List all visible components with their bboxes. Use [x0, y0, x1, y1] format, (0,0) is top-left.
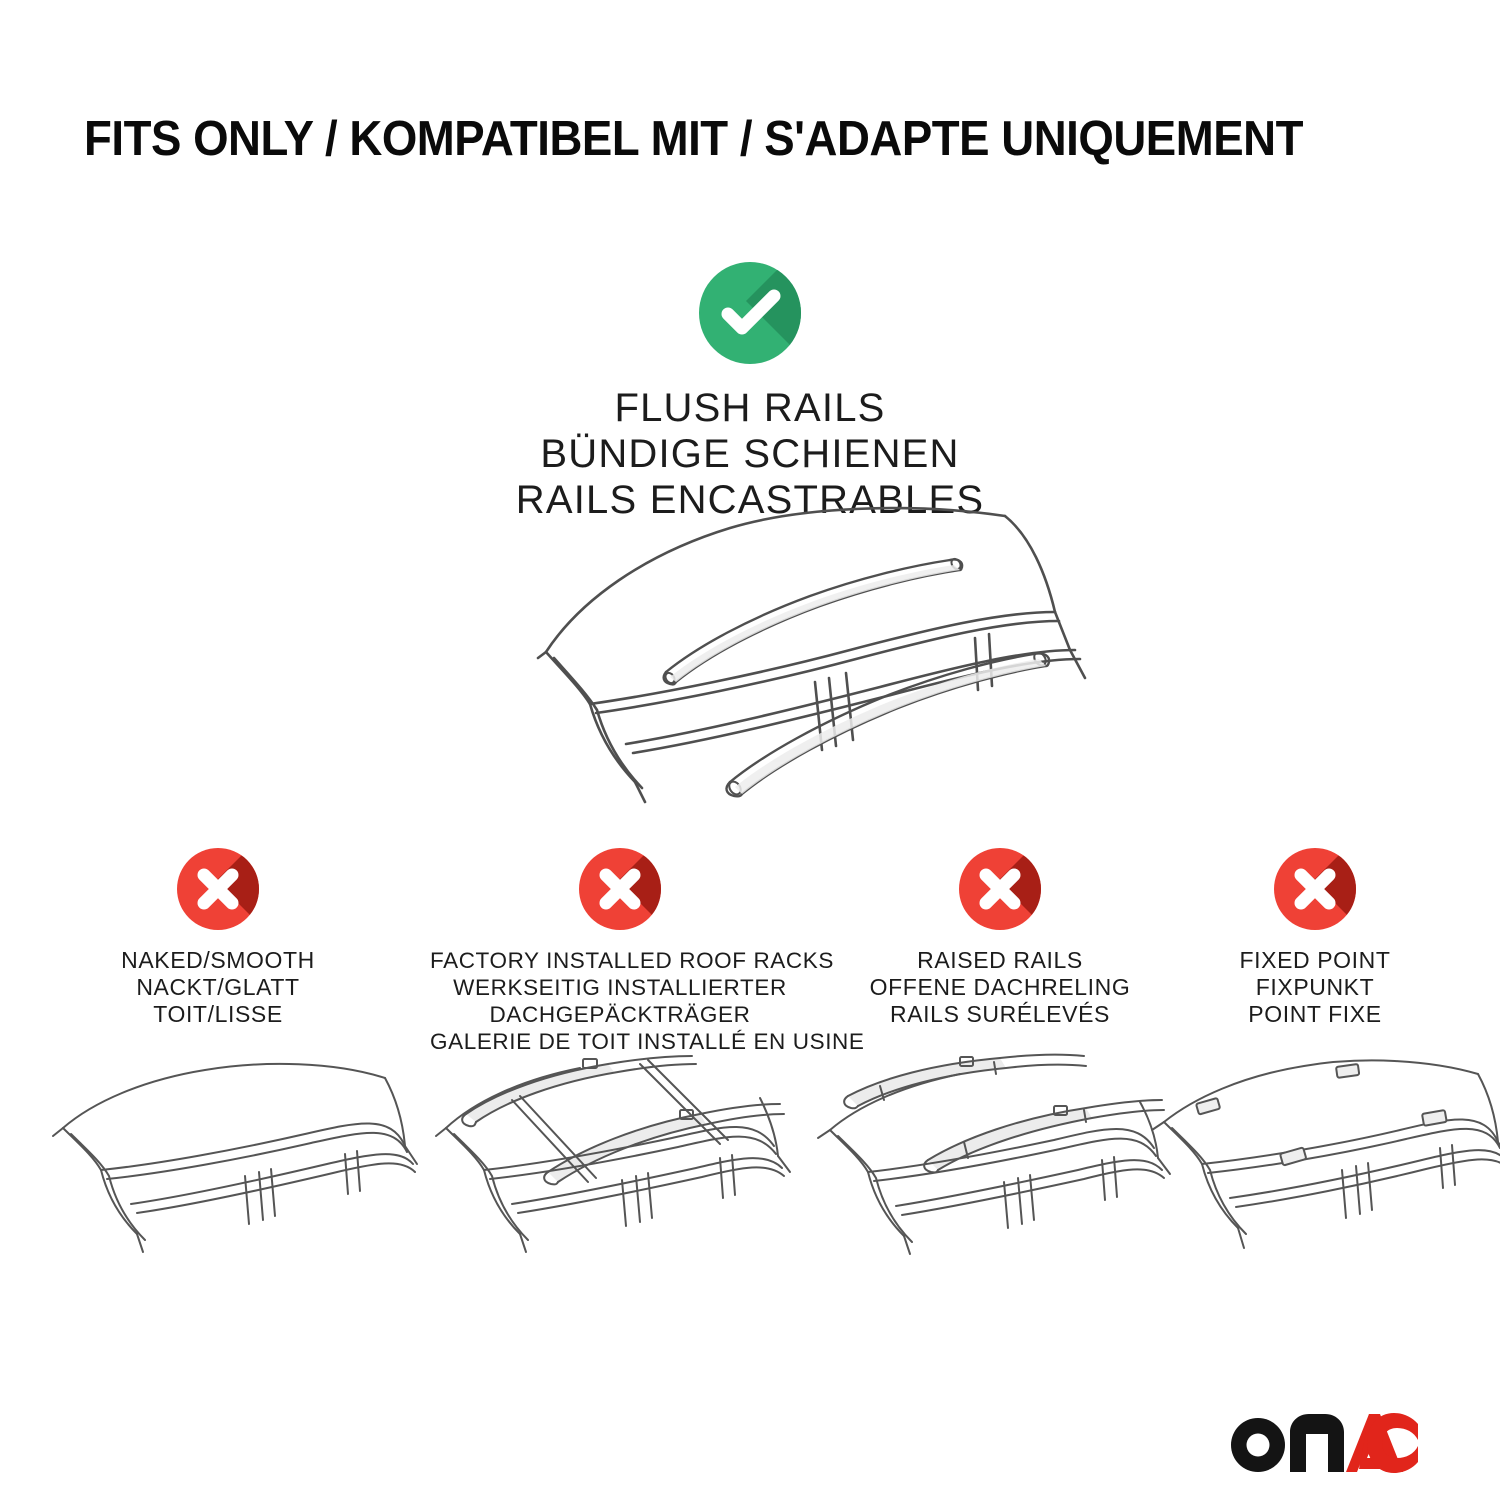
x-mark-glyph — [959, 848, 1041, 930]
check-circle-icon — [699, 262, 801, 364]
compatible-label-de: BÜNDIGE SCHIENEN — [0, 431, 1500, 477]
page-title: FITS ONLY / KOMPATIBEL MIT / S'ADAPTE UN… — [84, 110, 1330, 168]
omac-logo-letter-o — [1231, 1418, 1285, 1472]
option-label-de: NACKT/GLATT — [28, 974, 408, 1001]
car-roof-flush-rails-illustration — [430, 482, 1090, 812]
incompatible-option-naked: NAKED/SMOOTH NACKT/GLATT TOIT/LISSE — [28, 848, 408, 1028]
x-circle-icon — [177, 848, 259, 930]
check-mark-glyph — [699, 262, 801, 364]
fitment-compatibility-infographic: FITS ONLY / KOMPATIBEL MIT / S'ADAPTE UN… — [0, 0, 1500, 1500]
car-roof-raised-rails-illustration — [788, 1052, 1178, 1287]
x-mark-glyph — [1274, 848, 1356, 930]
x-mark-glyph — [177, 848, 259, 930]
option-label-fr: POINT FIXE — [1125, 1001, 1500, 1028]
option-label-en: FACTORY INSTALLED ROOF RACKS — [430, 947, 810, 974]
car-roof-fixed-point-illustration — [1130, 1052, 1500, 1287]
option-label-fr: GALERIE DE TOIT INSTALLÉ EN USINE — [430, 1028, 810, 1055]
option-label-de-2: DACHGEPÄCKTRÄGER — [430, 1001, 810, 1028]
omac-logo-letter-c — [1367, 1413, 1418, 1473]
option-label-de-1: WERKSEITIG INSTALLIERTER — [430, 974, 810, 1001]
option-label-group: FIXED POINT FIXPUNKT POINT FIXE — [1125, 947, 1500, 1028]
option-label-en: FIXED POINT — [1125, 947, 1500, 974]
option-label-de: FIXPUNKT — [1125, 974, 1500, 1001]
option-label-group: NAKED/SMOOTH NACKT/GLATT TOIT/LISSE — [28, 947, 408, 1028]
incompatible-option-factory-racks: FACTORY INSTALLED ROOF RACKS WERKSEITIG … — [430, 848, 810, 1055]
incompatible-option-fixed-point: FIXED POINT FIXPUNKT POINT FIXE — [1125, 848, 1500, 1028]
option-label-group: FACTORY INSTALLED ROOF RACKS WERKSEITIG … — [430, 947, 810, 1055]
x-circle-icon — [1274, 848, 1356, 930]
omac-logo — [1228, 1408, 1418, 1476]
omac-logo-letter-m — [1290, 1414, 1344, 1472]
x-circle-icon — [959, 848, 1041, 930]
option-label-en: NAKED/SMOOTH — [28, 947, 408, 974]
compatible-label-en: FLUSH RAILS — [0, 385, 1500, 431]
car-roof-factory-racks-illustration — [408, 1052, 798, 1287]
x-circle-icon — [579, 848, 661, 930]
car-roof-naked-illustration — [35, 1052, 425, 1287]
x-mark-glyph — [579, 848, 661, 930]
option-label-fr: TOIT/LISSE — [28, 1001, 408, 1028]
